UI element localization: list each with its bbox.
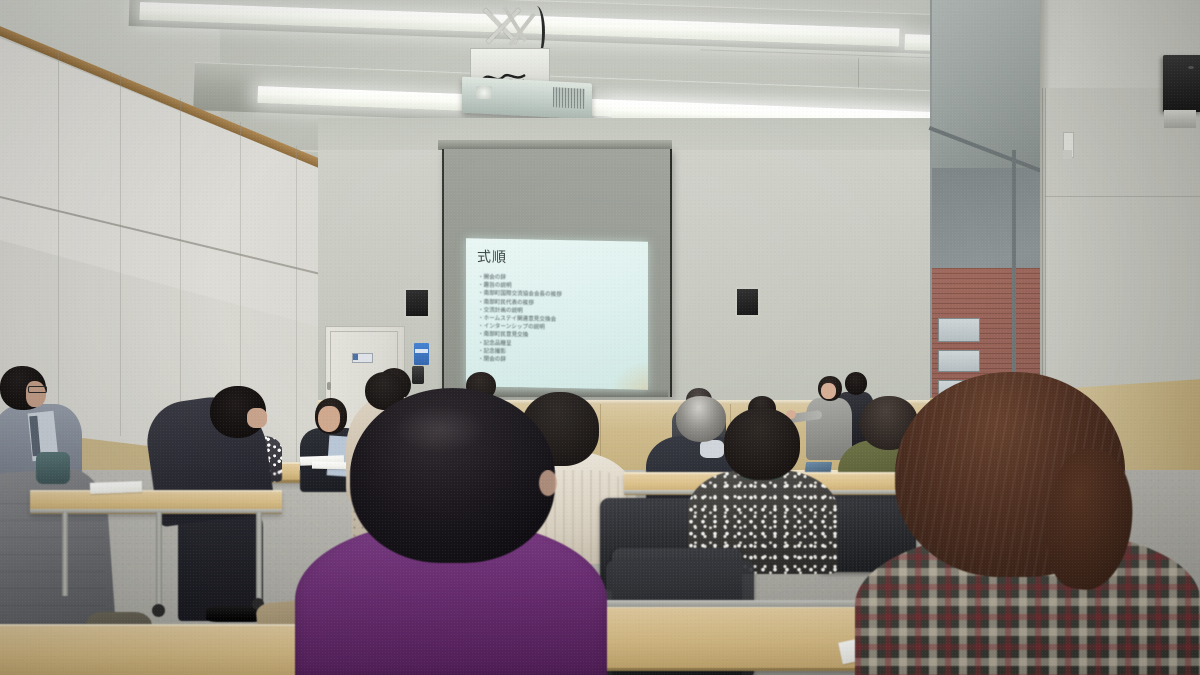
monitor-indicator-icon	[1188, 66, 1194, 69]
wall-panel-seam	[180, 98, 181, 448]
seminar-room-photo: 式順 開会の辞 趣旨の説明 南部町国際交流協会会長の挨拶 南部町民代表の挨拶 交…	[0, 0, 1200, 675]
slide-corner-glow	[608, 359, 648, 390]
presenter-head	[845, 372, 867, 395]
slide-bullet-list: 開会の辞 趣旨の説明 南部町国際交流協会会長の挨拶 南部町民代表の挨拶 交流計画…	[478, 273, 642, 366]
attendee-neck	[247, 408, 267, 428]
slide-title: 式順	[477, 246, 507, 267]
attendee-collar	[700, 440, 724, 458]
presenter-face	[821, 383, 836, 399]
attendee-legs	[178, 506, 263, 621]
chair	[36, 452, 70, 484]
wall-monitor	[1163, 55, 1200, 112]
attendee-ear	[539, 470, 557, 496]
wall-speaker-right	[735, 287, 760, 317]
wall-speaker-left	[404, 288, 430, 318]
monitor-bracket	[1164, 110, 1196, 128]
wall-panel-seam	[120, 74, 121, 436]
projector-vent	[553, 87, 585, 109]
door-handle[interactable]	[327, 382, 331, 390]
table	[0, 624, 310, 675]
projector-lens	[476, 86, 492, 99]
attendee-face	[318, 406, 340, 432]
exterior-window	[938, 350, 980, 372]
window-reflection	[932, 0, 1042, 180]
table-leg	[156, 512, 162, 608]
wall-exit-sign	[414, 343, 429, 365]
paper-on-table	[90, 481, 142, 494]
attendee-head	[676, 396, 726, 442]
wall-switch-button[interactable]	[1063, 150, 1072, 159]
wall-panel-seam	[1045, 196, 1200, 197]
table-caster	[152, 604, 165, 617]
camera-device	[412, 366, 424, 384]
wall-panel-seam	[58, 52, 59, 424]
paper-on-table	[312, 462, 348, 470]
table-leg	[256, 512, 262, 602]
hair-highlight	[395, 405, 485, 453]
exterior-window	[938, 318, 980, 342]
wall-exit-sign-text	[415, 349, 428, 353]
wall-panel-seam	[296, 146, 297, 474]
glasses-icon	[28, 386, 47, 393]
attendee-head	[724, 408, 800, 480]
door-sign-icon	[353, 354, 358, 360]
table-leg	[62, 512, 68, 596]
projected-slide: 式順 開会の辞 趣旨の説明 南部町国際交流協会会長の挨拶 南部町民代表の挨拶 交…	[466, 238, 648, 389]
attendee-face	[26, 381, 46, 407]
